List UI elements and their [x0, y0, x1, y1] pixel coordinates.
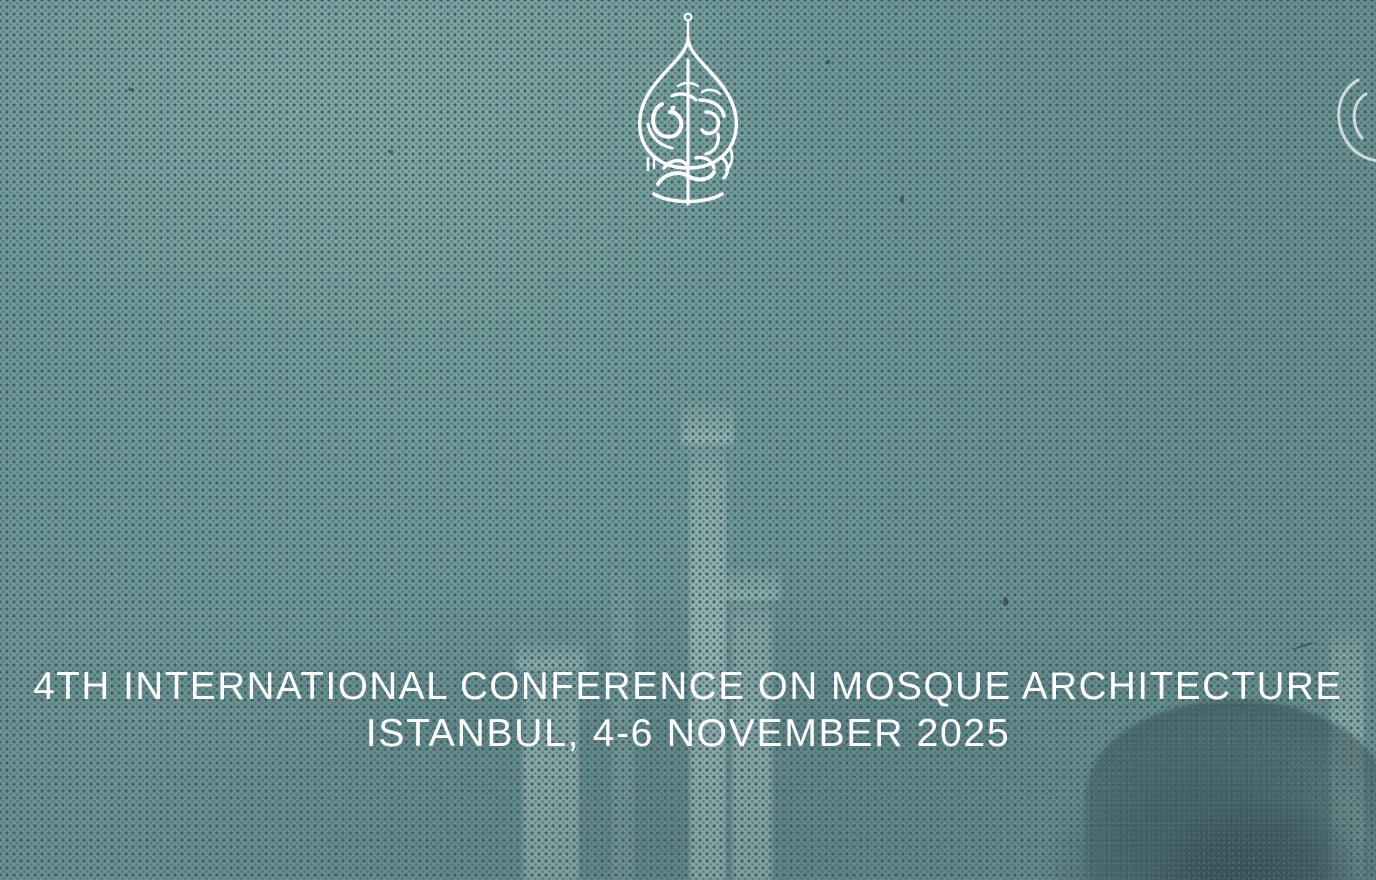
conference-poster: THE MOSQUE ARCHITECTURE 4TH INTERNATIONA… [0, 0, 1376, 880]
dust-speck [128, 88, 134, 91]
subtitle-location-date: ISTANBUL, 4-6 NOVEMBER 2025 [366, 710, 1011, 757]
subtitle-conference-name: 4TH INTERNATIONAL CONFERENCE ON MOSQUE A… [33, 663, 1342, 710]
title-line-accent: ARCHITECTURE [344, 432, 1032, 880]
subtitle-block: 4TH INTERNATIONAL CONFERENCE ON MOSQUE A… [0, 663, 1376, 757]
